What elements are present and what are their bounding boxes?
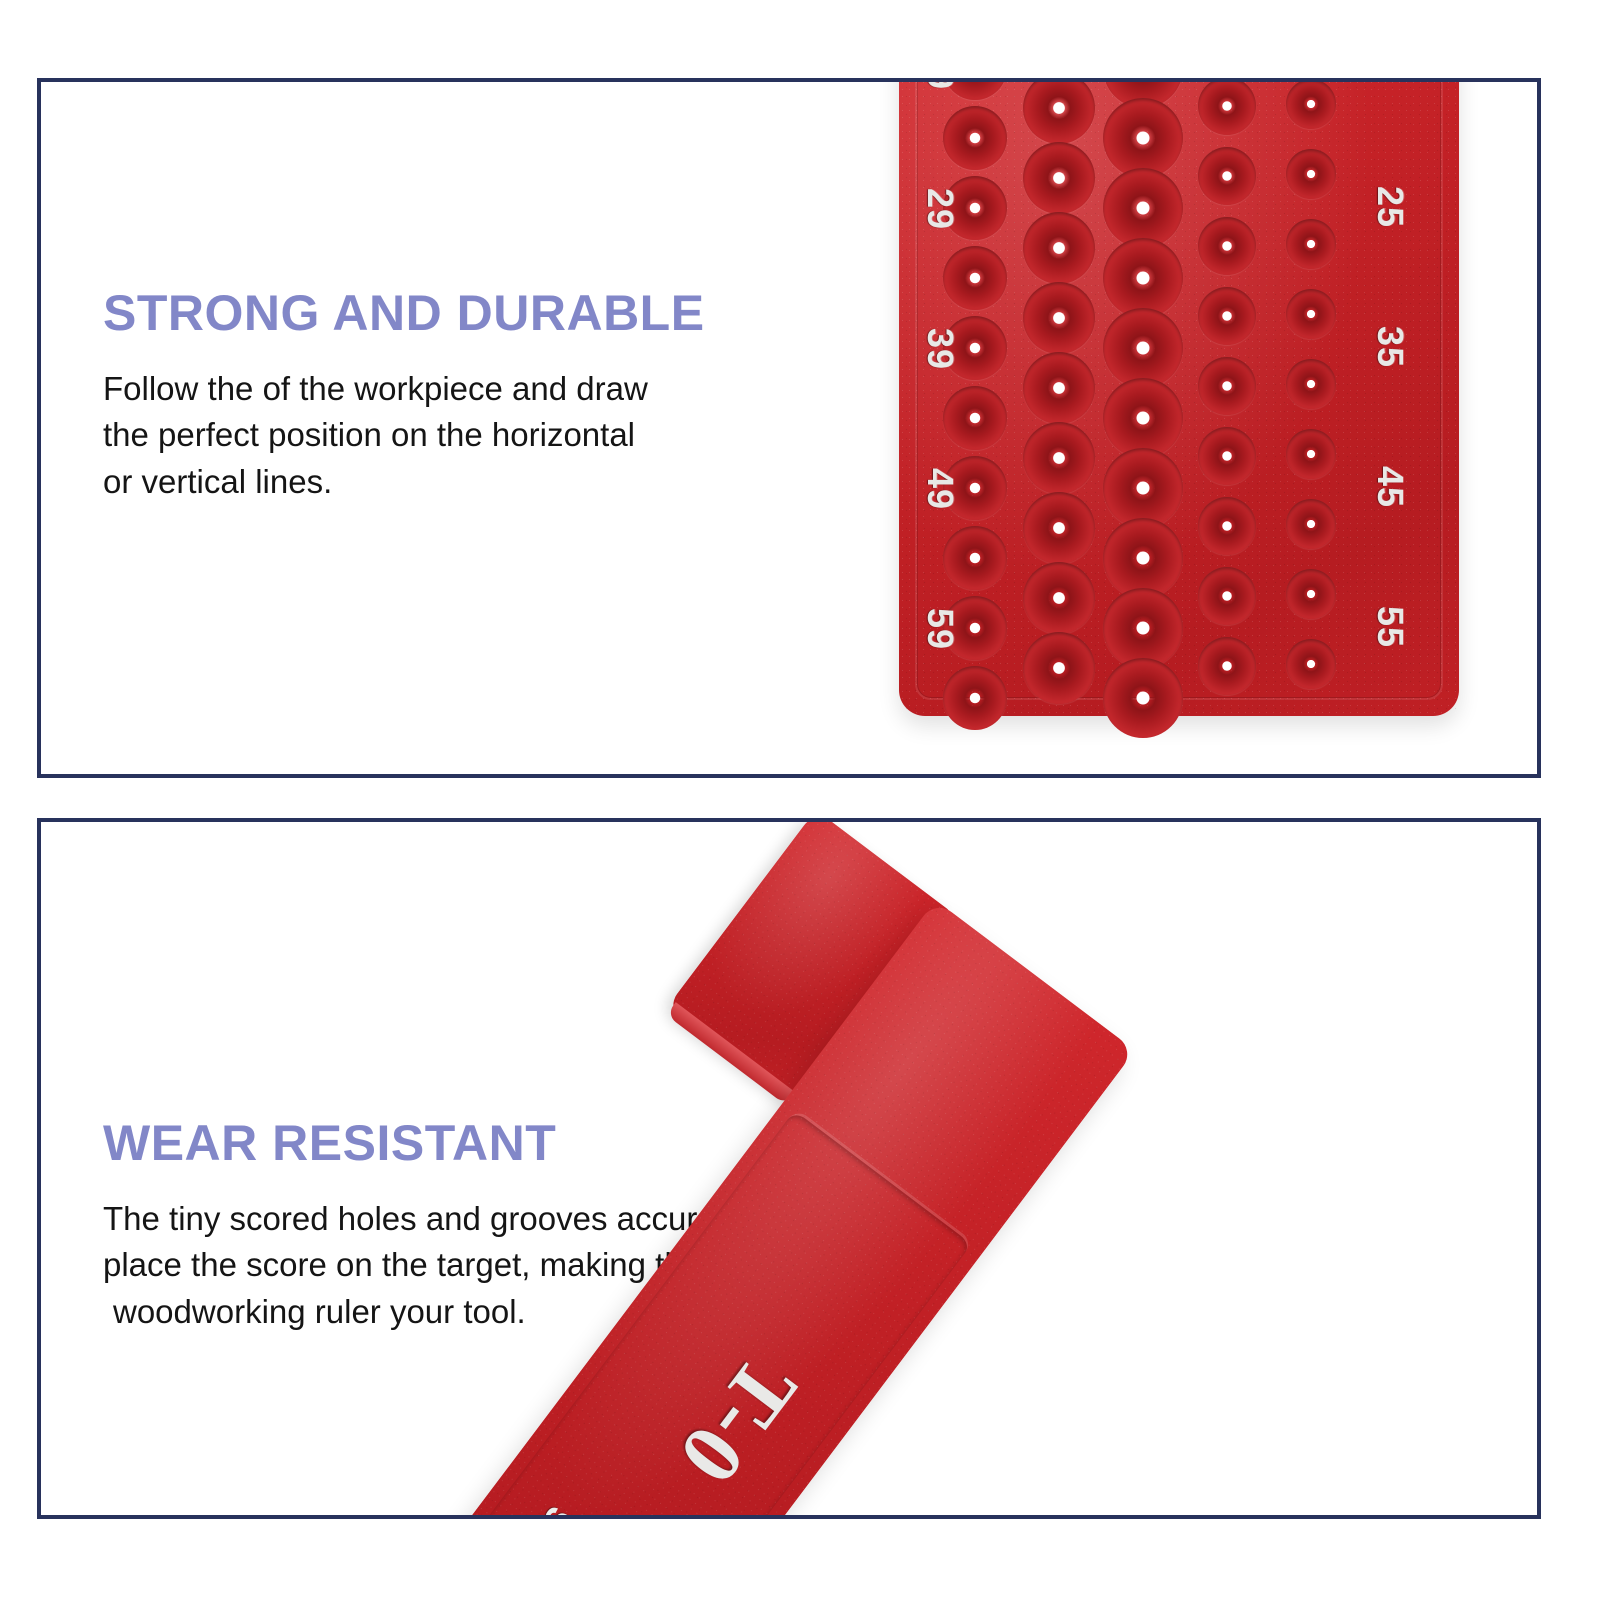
scale-number: 45 xyxy=(1369,466,1411,508)
countersunk-hole xyxy=(1103,238,1183,318)
countersunk-hole xyxy=(1023,352,1095,424)
countersunk-hole xyxy=(1286,569,1336,619)
countersunk-hole xyxy=(1023,492,1095,564)
countersunk-hole xyxy=(1103,168,1183,248)
countersunk-hole xyxy=(1103,378,1183,458)
countersunk-hole xyxy=(943,666,1007,730)
scale-number: 25 xyxy=(1369,186,1411,228)
countersunk-hole xyxy=(1198,287,1256,345)
countersunk-hole xyxy=(1023,78,1095,144)
body-line: Follow the of the workpiece and draw xyxy=(103,366,933,413)
countersunk-hole xyxy=(943,106,1007,170)
countersunk-hole xyxy=(1286,149,1336,199)
countersunk-hole xyxy=(1103,448,1183,528)
countersunk-hole xyxy=(943,526,1007,590)
countersunk-hole xyxy=(1198,78,1256,135)
product-feature-page: STRONG AND DURABLE Follow the of the wor… xyxy=(0,0,1600,1600)
body-line: the perfect position on the horizontal xyxy=(103,412,933,459)
countersunk-hole xyxy=(943,386,1007,450)
scale-number: 55 xyxy=(1369,606,1411,648)
countersunk-hole xyxy=(1198,357,1256,415)
countersunk-hole xyxy=(1023,562,1095,634)
scale-number: 9 xyxy=(533,1497,582,1519)
countersunk-hole xyxy=(1286,499,1336,549)
countersunk-hole xyxy=(1103,308,1183,388)
scale-number: 39 xyxy=(919,328,961,370)
countersunk-hole xyxy=(1286,429,1336,479)
countersunk-hole-group xyxy=(936,900,1136,1050)
countersunk-hole xyxy=(1286,79,1336,129)
feature-panel-strong-and-durable: STRONG AND DURABLE Follow the of the wor… xyxy=(37,78,1541,778)
scale-number: 59 xyxy=(919,608,961,650)
countersunk-hole xyxy=(1286,359,1336,409)
countersunk-hole xyxy=(1198,637,1256,695)
feature-text-block: STRONG AND DURABLE Follow the of the wor… xyxy=(103,287,933,506)
ruler-plate-product-image: 1929394959 25354555 xyxy=(899,78,1459,716)
countersunk-hole xyxy=(1198,497,1256,555)
countersunk-hole xyxy=(1198,567,1256,625)
countersunk-hole xyxy=(1286,289,1336,339)
countersunk-hole xyxy=(1198,147,1256,205)
countersunk-hole xyxy=(1198,217,1256,275)
scale-number: 35 xyxy=(1369,326,1411,368)
countersunk-hole xyxy=(1023,632,1095,704)
countersunk-hole xyxy=(1103,518,1183,598)
countersunk-hole xyxy=(1103,98,1183,178)
engraved-brand-text: T-0 xyxy=(657,1339,817,1505)
feature-heading: STRONG AND DURABLE xyxy=(103,287,933,340)
scale-number: 29 xyxy=(919,188,961,230)
scale-number: 19 xyxy=(919,78,961,90)
scale-number: 49 xyxy=(919,468,961,510)
body-line: or vertical lines. xyxy=(103,459,933,506)
countersunk-hole xyxy=(1103,658,1183,738)
countersunk-hole xyxy=(1023,282,1095,354)
feature-body: Follow the of the workpiece and draw the… xyxy=(103,366,933,507)
countersunk-hole xyxy=(1286,219,1336,269)
feature-panel-wear-resistant: WEAR RESISTANT The tiny scored holes and… xyxy=(37,818,1541,1519)
countersunk-hole xyxy=(1023,142,1095,214)
countersunk-hole xyxy=(1198,427,1256,485)
countersunk-hole xyxy=(1023,212,1095,284)
countersunk-hole xyxy=(1103,588,1183,668)
countersunk-hole xyxy=(943,246,1007,310)
countersunk-hole xyxy=(1023,422,1095,494)
countersunk-hole xyxy=(1286,639,1336,689)
